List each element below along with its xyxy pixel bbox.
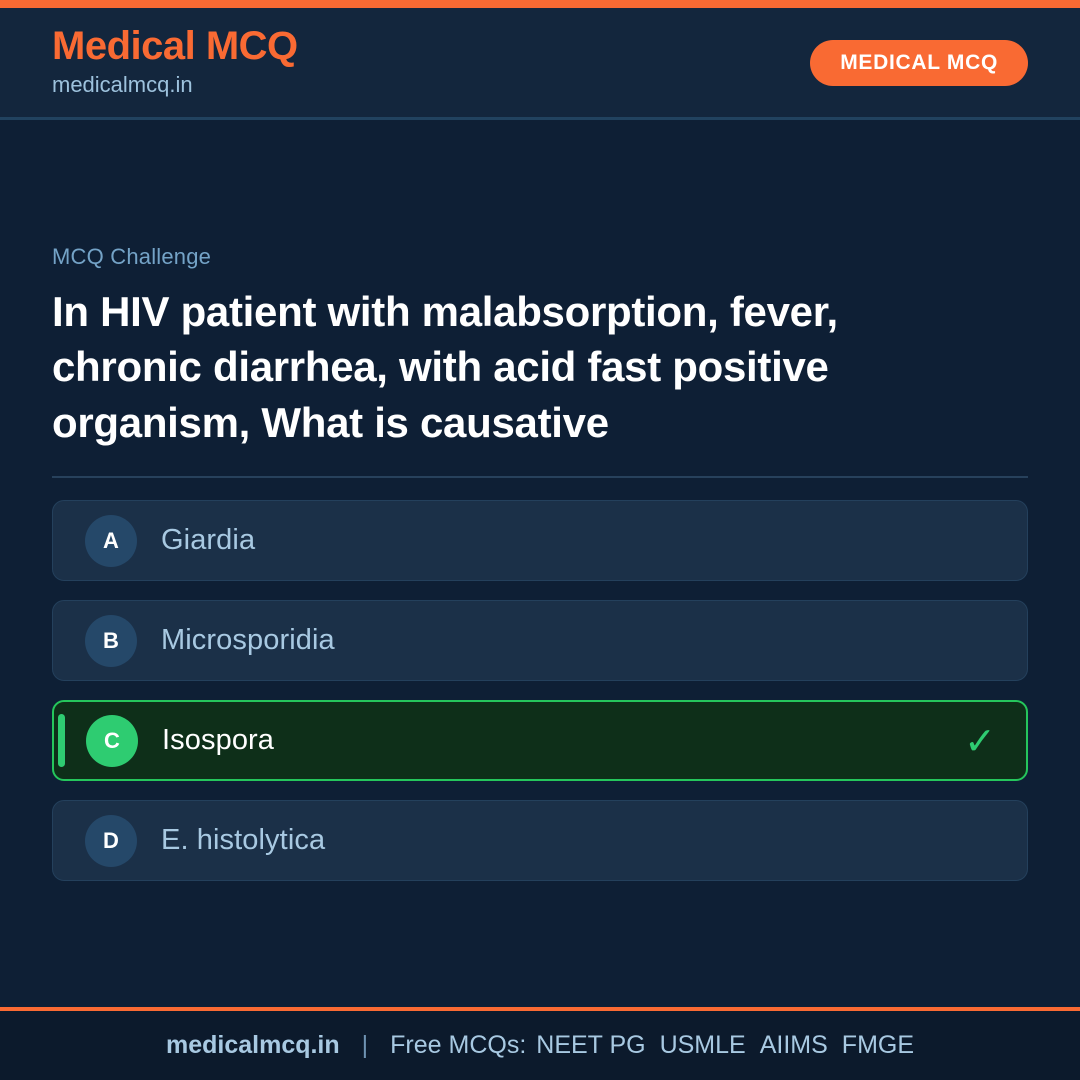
footer-label: Free MCQs: [390,1031,526,1060]
top-accent-bar [0,0,1080,8]
footer-exam-usmle: USMLE [660,1031,746,1060]
main-content: MCQ Challenge In HIV patient with malabs… [0,120,1080,1007]
brand-block: Medical MCQ medicalmcq.in [52,25,298,100]
brand-pill-badge: MEDICAL MCQ [810,40,1028,86]
footer-exam-fmge: FMGE [842,1031,914,1060]
option-label: Isospora [162,724,274,757]
option-letter-badge: D [85,815,137,867]
footer-content: medicalmcq.in | Free MCQs: NEET PG USMLE… [166,1031,914,1060]
option-label: E. histolytica [161,824,325,857]
option-label: Microsporidia [161,624,335,657]
brand-subtitle: medicalmcq.in [52,70,298,100]
kicker-label: MCQ Challenge [52,244,1028,270]
check-icon: ✓ [964,722,996,760]
footer-separator: | [362,1031,369,1060]
option-row-b[interactable]: B Microsporidia [52,600,1028,681]
options-list: A Giardia B Microsporidia C Isospora ✓ D… [52,500,1028,881]
header: Medical MCQ medicalmcq.in MEDICAL MCQ [0,8,1080,120]
footer-exam-neetpg: NEET PG [536,1031,645,1060]
option-letter-badge: C [86,715,138,767]
mcq-card: Medical MCQ medicalmcq.in MEDICAL MCQ MC… [0,0,1080,1080]
footer-exam-aiims: AIIMS [760,1031,828,1060]
brand-title: Medical MCQ [52,25,298,67]
option-letter-badge: A [85,515,137,567]
option-label: Giardia [161,524,255,557]
footer-site-name: medicalmcq.in [166,1031,340,1060]
question-text: In HIV patient with malabsorption, fever… [52,284,982,450]
question-divider [52,476,1028,478]
correct-accent-bar [58,714,65,767]
footer: medicalmcq.in | Free MCQs: NEET PG USMLE… [0,1007,1080,1080]
option-row-d[interactable]: D E. histolytica [52,800,1028,881]
option-letter-badge: B [85,615,137,667]
option-row-c-correct[interactable]: C Isospora ✓ [52,700,1028,781]
option-row-a[interactable]: A Giardia [52,500,1028,581]
